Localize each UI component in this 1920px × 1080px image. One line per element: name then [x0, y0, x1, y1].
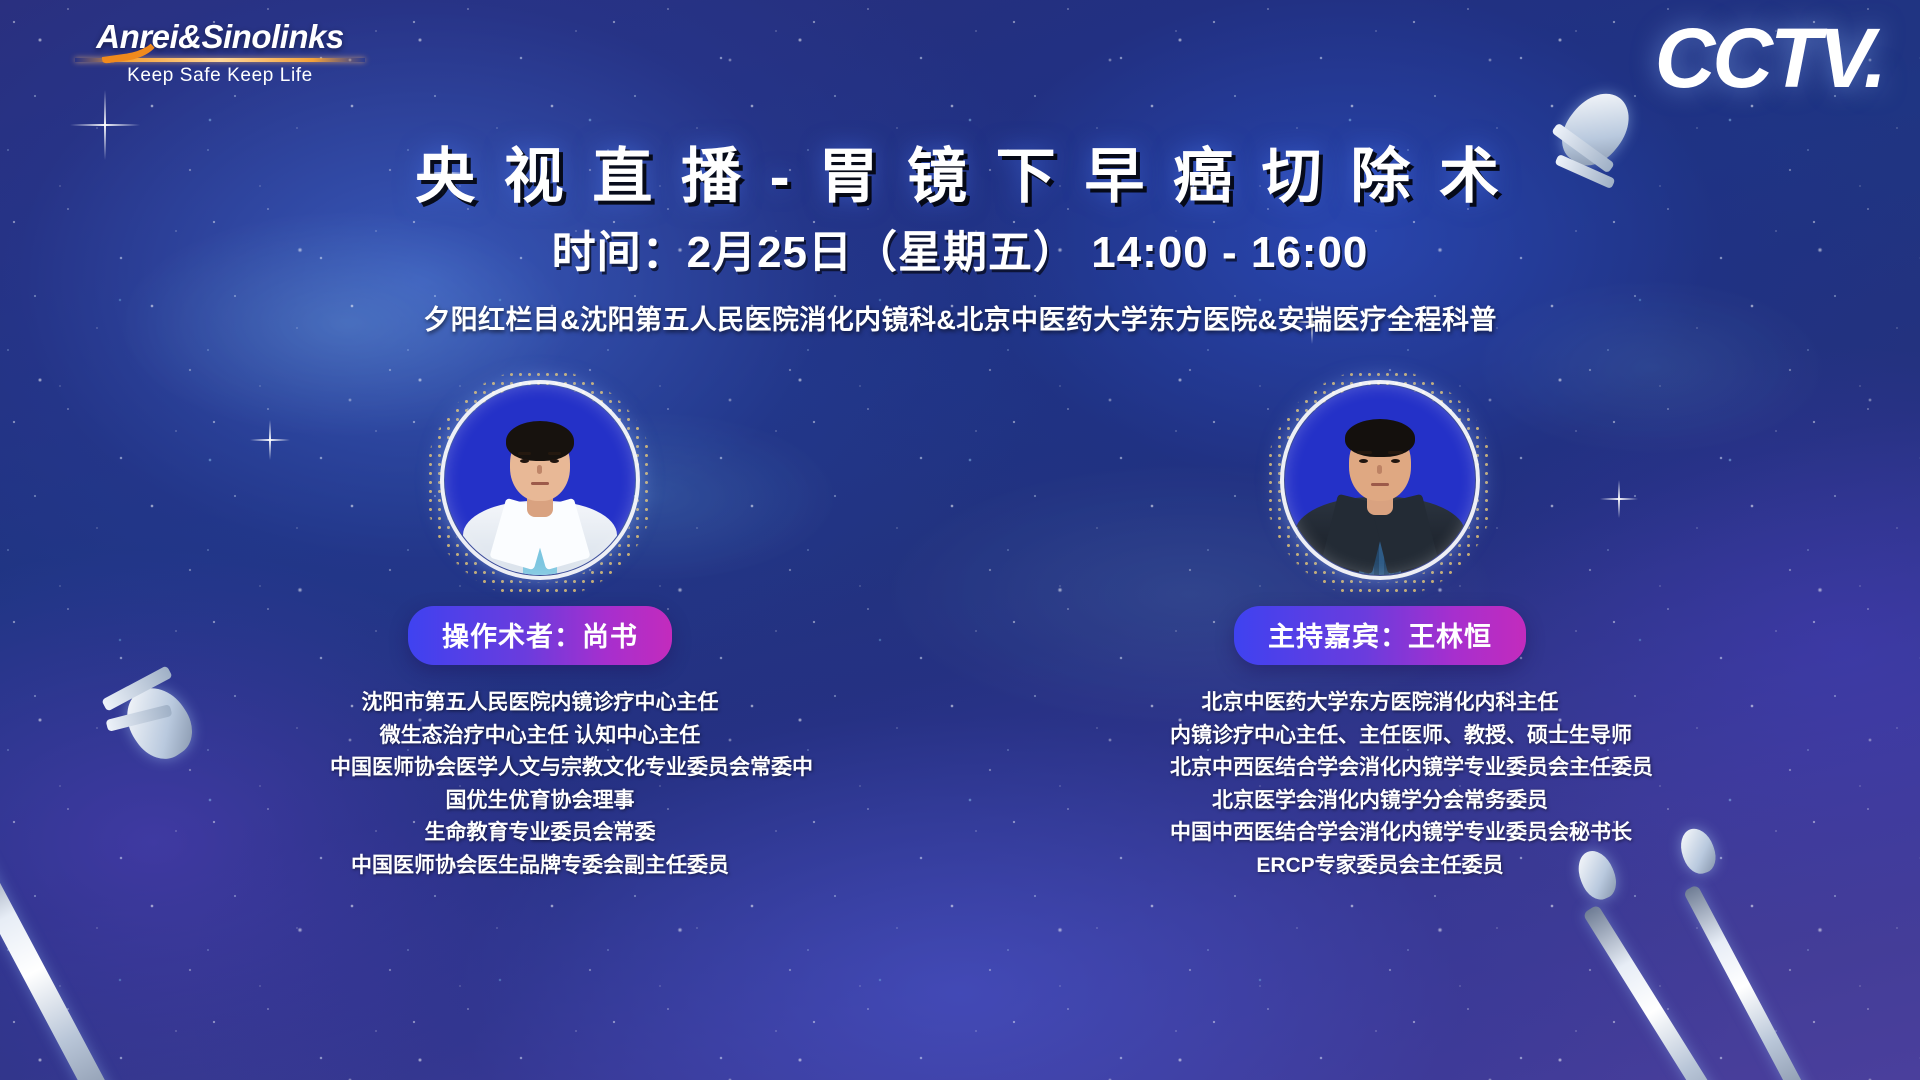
avatar-ring [1280, 380, 1480, 580]
list-item: ERCP专家委员会主任委员 [1170, 850, 1590, 883]
avatar-ring [440, 380, 640, 580]
credential-list: 沈阳市第五人民医院内镜诊疗中心主任 微生态治疗中心主任 认知中心主任 中国医师协… [330, 687, 750, 882]
speaker-card: 主持嘉宾：王林恒 北京中医药大学东方医院消化内科主任 内镜诊疗中心主任、主任医师… [1170, 380, 1590, 882]
event-time: 时间：2月25日（星期五） 14:00 - 16:00 [0, 216, 1920, 280]
speaker-card: 操作术者：尚书 沈阳市第五人民医院内镜诊疗中心主任 微生态治疗中心主任 认知中心… [330, 380, 750, 882]
partners-line: 夕阳红栏目&沈阳第五人民医院消化内镜科&北京中医药大学东方医院&安瑞医疗全程科普 [0, 298, 1920, 337]
list-item: 国优生优育协会理事 [330, 785, 750, 818]
status-badge: 主持嘉宾：王林恒 [1234, 606, 1526, 665]
list-item: 北京中医药大学东方医院消化内科主任 [1170, 687, 1590, 720]
speaker-list: 操作术者：尚书 沈阳市第五人民医院内镜诊疗中心主任 微生态治疗中心主任 认知中心… [0, 380, 1920, 882]
brand-tagline: Keep Safe Keep Life [60, 65, 380, 87]
list-item: 中国中西医结合学会消化内镜学专业委员会秘书长 [1170, 817, 1590, 850]
list-item: 沈阳市第五人民医院内镜诊疗中心主任 [330, 687, 750, 720]
page-title: 央 视 直 播 - 胃 镜 下 早 癌 切 除 术 [0, 128, 1920, 215]
status-badge: 操作术者：尚书 [408, 606, 672, 665]
brand-logo: Anrei&Sinolinks Keep Safe Keep Life [60, 18, 380, 87]
list-item: 内镜诊疗中心主任、主任医师、教授、硕士生导师 [1170, 720, 1590, 753]
list-item: 微生态治疗中心主任 认知中心主任 [330, 720, 750, 753]
avatar [440, 380, 640, 580]
credential-list: 北京中医药大学东方医院消化内科主任 内镜诊疗中心主任、主任医师、教授、硕士生导师… [1170, 687, 1590, 882]
list-item: 中国医师协会医生品牌专委会副主任委员 [330, 850, 750, 883]
list-item: 生命教育专业委员会常委 [330, 817, 750, 850]
poster-canvas: Anrei&Sinolinks Keep Safe Keep Life CCTV… [0, 0, 1920, 1080]
list-item: 北京医学会消化内镜学分会常务委员 [1170, 785, 1590, 818]
avatar [1280, 380, 1480, 580]
list-item: 中国医师协会医学人文与宗教文化专业委员会常委中 [330, 752, 750, 785]
cctv-logo: CCTV. [1655, 10, 1884, 107]
list-item: 北京中西医结合学会消化内镜学专业委员会主任委员 [1170, 752, 1590, 785]
